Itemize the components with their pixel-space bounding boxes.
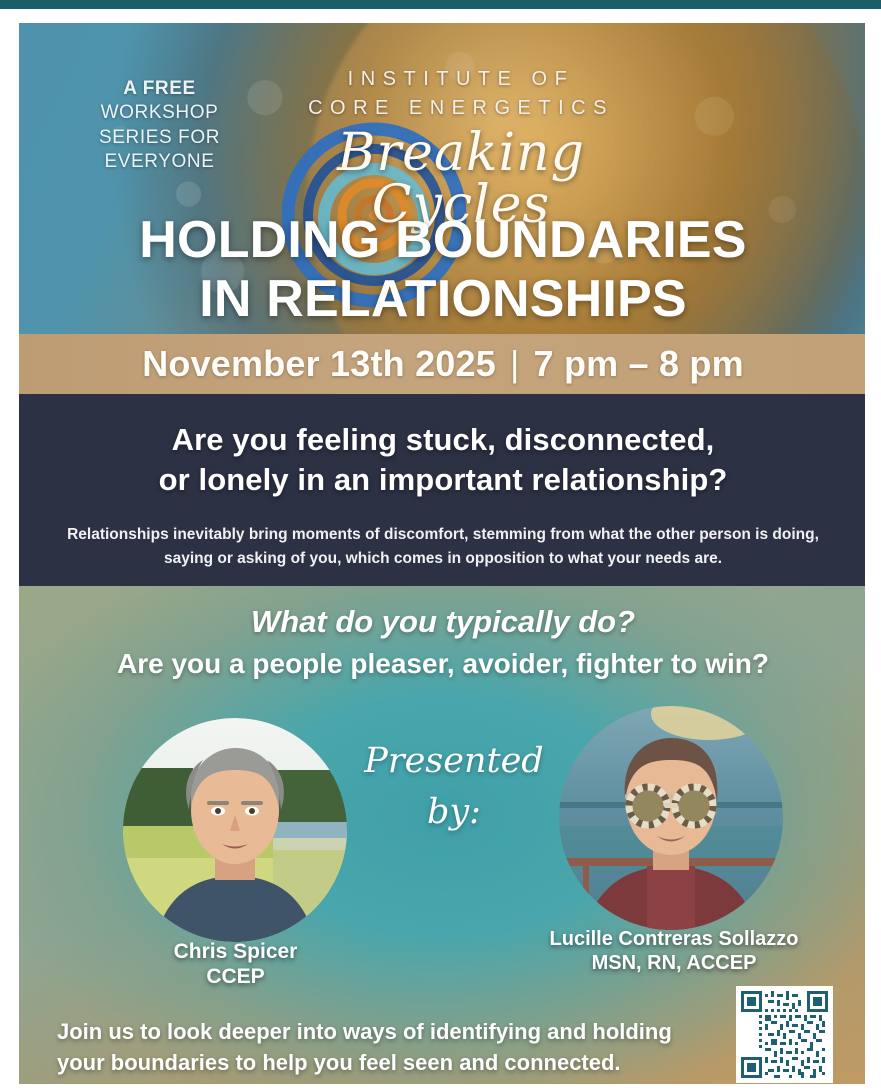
cta-line-2: your boundaries to help you feel seen an…: [57, 1047, 697, 1078]
presenters-section: What do you typically do? Are you a peop…: [19, 586, 866, 1085]
hero-banner: A FREE WORKSHOP SERIES FOR EVERYONE INST…: [19, 23, 866, 334]
qr-code-icon: [741, 991, 828, 1078]
free-workshop-badge: A FREE WORKSHOP SERIES FOR EVERYONE: [87, 77, 232, 174]
presented-by-line-2: by:: [359, 787, 549, 838]
title-line-1: HOLDING BOUNDARIES: [19, 211, 866, 270]
badge-line-4: EVERYONE: [87, 150, 232, 174]
badge-line-3: SERIES FOR: [87, 126, 232, 150]
event-time: 7 pm – 8 pm: [534, 343, 744, 384]
top-edge-strip: [0, 0, 881, 9]
brand-lockup: INSTITUTE OF CORE ENERGETICS Breaking Cy…: [251, 65, 671, 231]
date-time-band: November 13th 2025|7 pm – 8 pm: [19, 334, 866, 394]
hook-paragraph: Relationships inevitably bring moments o…: [58, 523, 828, 572]
date-time-separator: |: [510, 343, 520, 384]
portrait-illustration-left: [123, 718, 347, 942]
presenter-left-credentials: CCEP: [103, 964, 368, 989]
prompt-question-italic: What do you typically do?: [19, 604, 866, 640]
institute-line-2: CORE ENERGETICS: [251, 94, 671, 123]
presented-by-label: Presented by:: [359, 736, 549, 838]
hook-band: Are you feeling stuck, disconnected, or …: [19, 394, 866, 586]
poster-page: A FREE WORKSHOP SERIES FOR EVERYONE INST…: [0, 0, 881, 1090]
page-title: HOLDING BOUNDARIES IN RELATIONSHIPS: [19, 211, 866, 329]
hook-heading: Are you feeling stuck, disconnected, or …: [19, 420, 866, 501]
presenter-left-fullname: Chris Spicer: [174, 940, 298, 963]
hook-line-2: or lonely in an important relationship?: [19, 460, 866, 500]
cta-line-1: Join us to look deeper into ways of iden…: [57, 1016, 697, 1047]
presented-by-line-1: Presented: [364, 741, 543, 781]
qr-code[interactable]: [736, 986, 833, 1083]
call-to-action-text: Join us to look deeper into ways of iden…: [57, 1016, 697, 1078]
title-line-2: IN RELATIONSHIPS: [19, 270, 866, 329]
institute-line-1: INSTITUTE OF: [251, 65, 671, 94]
badge-line-2: WORKSHOP: [87, 101, 232, 125]
workshop-flyer: A FREE WORKSHOP SERIES FOR EVERYONE INST…: [18, 22, 866, 1085]
presenter-photo-chris-spicer: [123, 718, 347, 942]
presenter-right-fullname: Lucille Contreras Sollazzo: [550, 928, 799, 950]
prompt-question-bold: Are you a people pleaser, avoider, fight…: [19, 648, 866, 680]
portrait-illustration-right: [559, 706, 783, 930]
hook-line-1: Are you feeling stuck, disconnected,: [19, 420, 866, 460]
date-time-text: November 13th 2025|7 pm – 8 pm: [142, 343, 744, 385]
presenter-right-credentials: MSN, RN, ACCEP: [524, 951, 824, 975]
presenter-name-right: Lucille Contreras Sollazzo MSN, RN, ACCE…: [524, 927, 824, 975]
event-date: November 13th 2025: [142, 343, 496, 384]
presenter-photo-lucille-sollazzo: [559, 706, 783, 930]
presenter-name-left: Chris Spicer CCEP: [103, 939, 368, 989]
badge-line-1: A FREE: [87, 77, 232, 101]
